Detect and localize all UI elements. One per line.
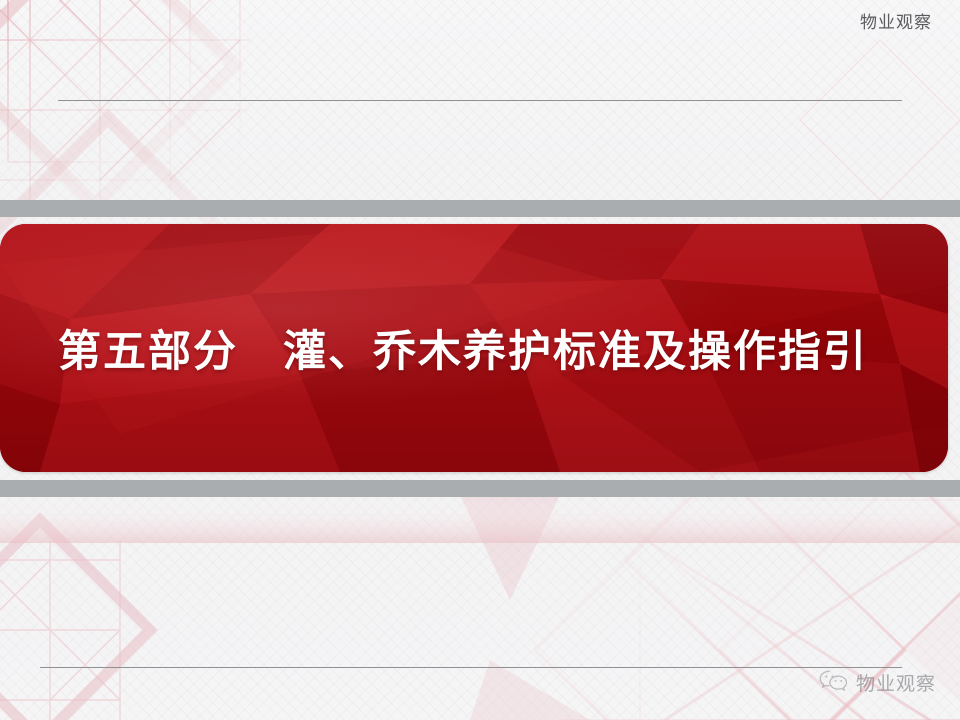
- section-title-text: 第五部分 灌、乔木养护标准及操作指引: [0, 224, 948, 472]
- footer-brand-label: 物业观察: [856, 669, 936, 696]
- slide-canvas: 第五部分 灌、乔木养护标准及操作指引 物业观察 物业观察: [0, 0, 960, 720]
- divider-bottom: [40, 667, 902, 668]
- footer-brand: 物业观察: [817, 668, 936, 697]
- wechat-logo-icon: [817, 668, 851, 697]
- gray-bar-above-banner: [0, 200, 960, 217]
- divider-top: [58, 100, 902, 101]
- section-title-banner: 第五部分 灌、乔木养护标准及操作指引: [0, 224, 948, 472]
- gray-bar-below-banner: [0, 480, 960, 497]
- header-brand-label: 物业观察: [860, 8, 932, 33]
